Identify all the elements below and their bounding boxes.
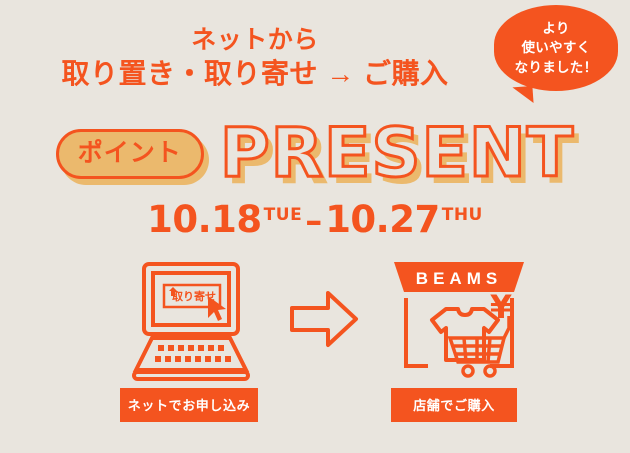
date-separator: – bbox=[305, 201, 322, 241]
promotional-banner: ネットから 取り置き・取り寄せ → ご購入 より 使いやすく なりました！ ポイ… bbox=[0, 0, 630, 453]
speech-bubble: より 使いやすく なりました！ bbox=[494, 5, 618, 91]
laptop-illustration: 取り寄せ bbox=[122, 258, 272, 388]
store-illustration: BEAMS ¥ bbox=[388, 258, 530, 388]
end-date: 10.27 bbox=[325, 198, 440, 241]
speech-bubble-tail bbox=[503, 86, 533, 105]
start-date: 10.18 bbox=[147, 198, 262, 241]
speech-bubble-line-2: 使いやすく bbox=[522, 38, 591, 57]
headline-line-2: 取り置き・取り寄せ → ご購入 bbox=[0, 56, 510, 92]
process-illustration: 取り寄せ BEAMS ¥ bbox=[0, 258, 630, 383]
present-wordmark: PRESENT bbox=[220, 120, 574, 188]
speech-bubble-line-1: より bbox=[542, 19, 569, 38]
store-sign-label: BEAMS bbox=[416, 269, 502, 288]
speech-bubble-line-3: なりました！ bbox=[515, 58, 598, 77]
campaign-dates: 10.18TUE–10.27THU bbox=[0, 198, 630, 241]
present-row: ポイント PRESENT bbox=[0, 115, 630, 193]
caption-online-application: ネットでお申し込み bbox=[120, 388, 258, 422]
laptop-keyboard-keys bbox=[155, 345, 231, 362]
arrow-right-icon bbox=[288, 288, 360, 350]
point-badge: ポイント bbox=[56, 129, 204, 179]
laptop-icon: 取り寄せ bbox=[122, 258, 272, 383]
end-day-of-week: THU bbox=[442, 205, 483, 225]
headline-line-1: ネットから bbox=[0, 24, 510, 56]
headline: ネットから 取り置き・取り寄せ → ご購入 bbox=[0, 24, 510, 92]
caption-store-purchase: 店舗でご購入 bbox=[391, 388, 517, 422]
cursor-icon bbox=[208, 296, 226, 321]
flow-arrow bbox=[288, 288, 360, 355]
store-icon: BEAMS ¥ bbox=[388, 258, 530, 383]
start-day-of-week: TUE bbox=[264, 205, 303, 225]
